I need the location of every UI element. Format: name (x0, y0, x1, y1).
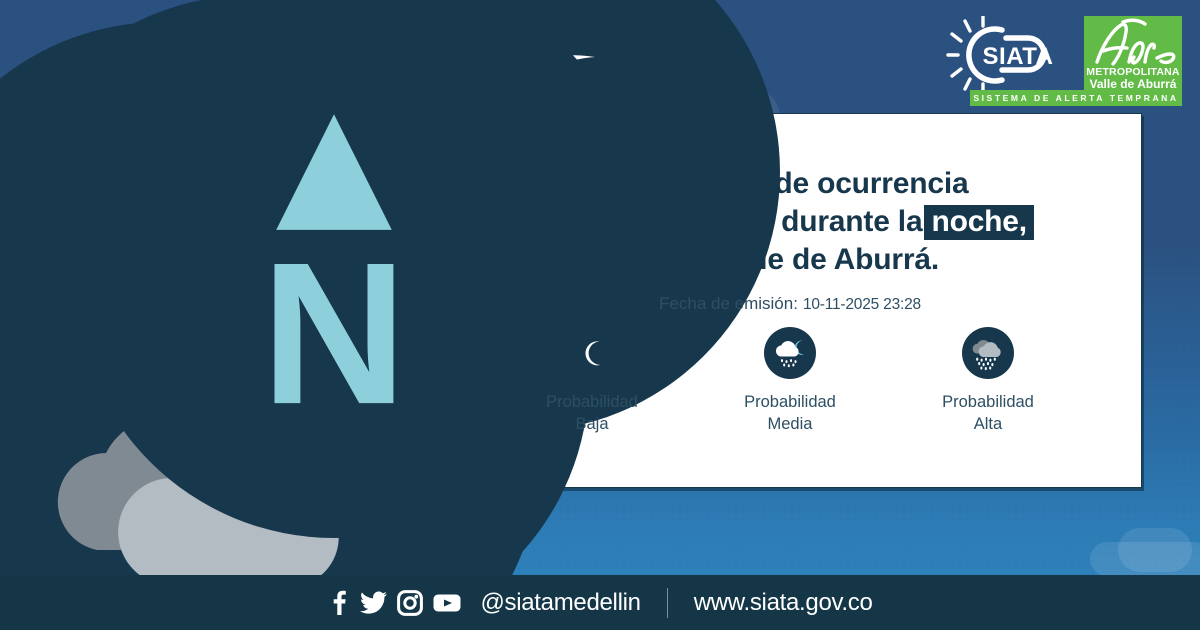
siata-tagline-bar: SISTEMA DE ALERTA TEMPRANA (970, 90, 1182, 106)
probability-legend: ProbabilidadBaja ProbabilidadMedia Proba… (470, 327, 1110, 436)
headline-block: Pronóstico de ocurrencia de precipitació… (470, 165, 1110, 314)
title-line-1: Pronóstico de ocurrencia (470, 165, 1110, 203)
legend-item-media: ProbabilidadMedia (700, 327, 880, 436)
youtube-icon[interactable] (432, 590, 462, 616)
title-line-2-text: de precipitación durante la (546, 205, 922, 238)
siata-logo: SIATA (946, 16, 1076, 94)
siata-tagline-text: SISTEMA DE ALERTA TEMPRANA (973, 93, 1178, 103)
legend-label-line-1: Probabilidad (546, 393, 638, 411)
instagram-icon[interactable] (397, 590, 423, 616)
footer-bar: @siatamedellin www.siata.gov.co (0, 575, 1200, 630)
title-highlight-noche: noche, (924, 205, 1033, 240)
cloud-heavy-rain-icon (962, 327, 1014, 379)
legend-label-baja: ProbabilidadBaja (546, 392, 638, 436)
facebook-icon[interactable] (327, 590, 351, 616)
legend-label-line-1: Probabilidad (942, 393, 1034, 411)
map-valle-de-aburra: N (52, 55, 572, 575)
social-icons (327, 590, 462, 616)
legend-label-line-2: Alta (974, 415, 1002, 433)
emission-date-label: Fecha de emisión: (659, 294, 798, 313)
page-title: Pronóstico de ocurrencia de precipitació… (470, 165, 1110, 278)
title-line-3: en el Valle de Aburrá. (470, 241, 1110, 279)
footer-divider (667, 588, 668, 618)
legend-label-line-2: Baja (575, 415, 608, 433)
area-logo-line-2: Valle de Aburrá (1086, 78, 1179, 91)
decor-cloud-right-b (1118, 528, 1192, 572)
twitter-icon[interactable] (360, 590, 388, 616)
logo-group: SIATA METROPOLITANA Valle de Aburrá (946, 16, 1182, 98)
area-logo-subtitle: METROPOLITANA Valle de Aburrá (1086, 67, 1179, 91)
legend-item-alta: ProbabilidadAlta (898, 327, 1078, 436)
infographic-root: N Pronóstico de ocurrencia de precipitac… (0, 0, 1200, 630)
legend-label-line-1: Probabilidad (744, 393, 836, 411)
legend-label-media: ProbabilidadMedia (744, 392, 836, 436)
area-script-wordmark (1087, 18, 1179, 70)
legend-label-line-2: Media (768, 415, 813, 433)
emission-date-value: 10-11-2025 23:28 (803, 296, 921, 313)
social-handle[interactable]: @siatamedellin (480, 589, 640, 617)
emission-date: Fecha de emisión:10-11-2025 23:28 (470, 294, 1110, 314)
legend-item-baja: ProbabilidadBaja (502, 327, 682, 436)
moon-icon (566, 327, 618, 379)
svg-text:N: N (261, 220, 407, 446)
cloud-rain-moon-icon (764, 327, 816, 379)
area-metropolitana-logo: METROPOLITANA Valle de Aburrá (1084, 16, 1182, 98)
legend-label-alta: ProbabilidadAlta (942, 392, 1034, 436)
title-line-2: de precipitación durante lanoche, (470, 203, 1110, 241)
svg-text:SIATA: SIATA (983, 43, 1054, 70)
website-url[interactable]: www.siata.gov.co (694, 589, 873, 617)
